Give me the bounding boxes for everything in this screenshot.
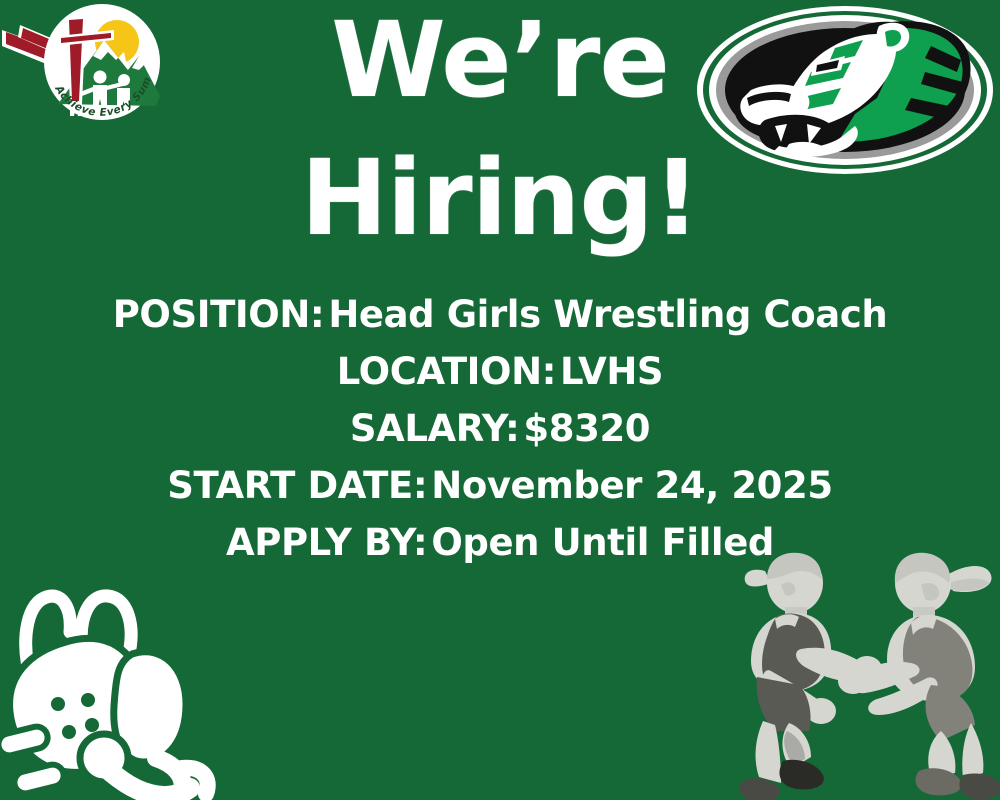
detail-label-salary: SALARY: bbox=[350, 407, 520, 450]
detail-row-position: POSITION:Head Girls Wrestling Coach bbox=[0, 286, 1000, 343]
detail-label-apply-by: APPLY BY: bbox=[226, 521, 427, 564]
female-wrestlers-illustration bbox=[735, 545, 1000, 800]
detail-row-location: LOCATION:LVHS bbox=[0, 343, 1000, 400]
hiring-flyer: Achieve Every Summit bbox=[0, 0, 1000, 800]
wrestling-headgear-illustration bbox=[0, 572, 246, 800]
wrestler-right bbox=[838, 553, 1000, 800]
district-logo: Achieve Every Summit bbox=[0, 0, 180, 125]
detail-row-salary: SALARY:$8320 bbox=[0, 400, 1000, 457]
detail-row-start-date: START DATE:November 24, 2025 bbox=[0, 457, 1000, 514]
district-logo-graphic: Achieve Every Summit bbox=[0, 0, 180, 125]
detail-value-apply-by: Open Until Filled bbox=[427, 521, 774, 564]
detail-value-location: LVHS bbox=[556, 350, 663, 393]
tiger-mascot-graphic bbox=[695, 2, 995, 182]
wrestling-headgear-graphic bbox=[0, 572, 246, 800]
female-wrestlers-graphic bbox=[735, 545, 1000, 800]
job-details: POSITION:Head Girls Wrestling Coach LOCA… bbox=[0, 286, 1000, 571]
detail-value-position: Head Girls Wrestling Coach bbox=[324, 293, 887, 336]
detail-label-start-date: START DATE: bbox=[167, 464, 427, 507]
tiger-mascot-logo bbox=[695, 2, 995, 182]
detail-value-start-date: November 24, 2025 bbox=[427, 464, 832, 507]
detail-value-salary: $8320 bbox=[519, 407, 650, 450]
detail-label-position: POSITION: bbox=[113, 293, 325, 336]
detail-label-location: LOCATION: bbox=[337, 350, 556, 393]
